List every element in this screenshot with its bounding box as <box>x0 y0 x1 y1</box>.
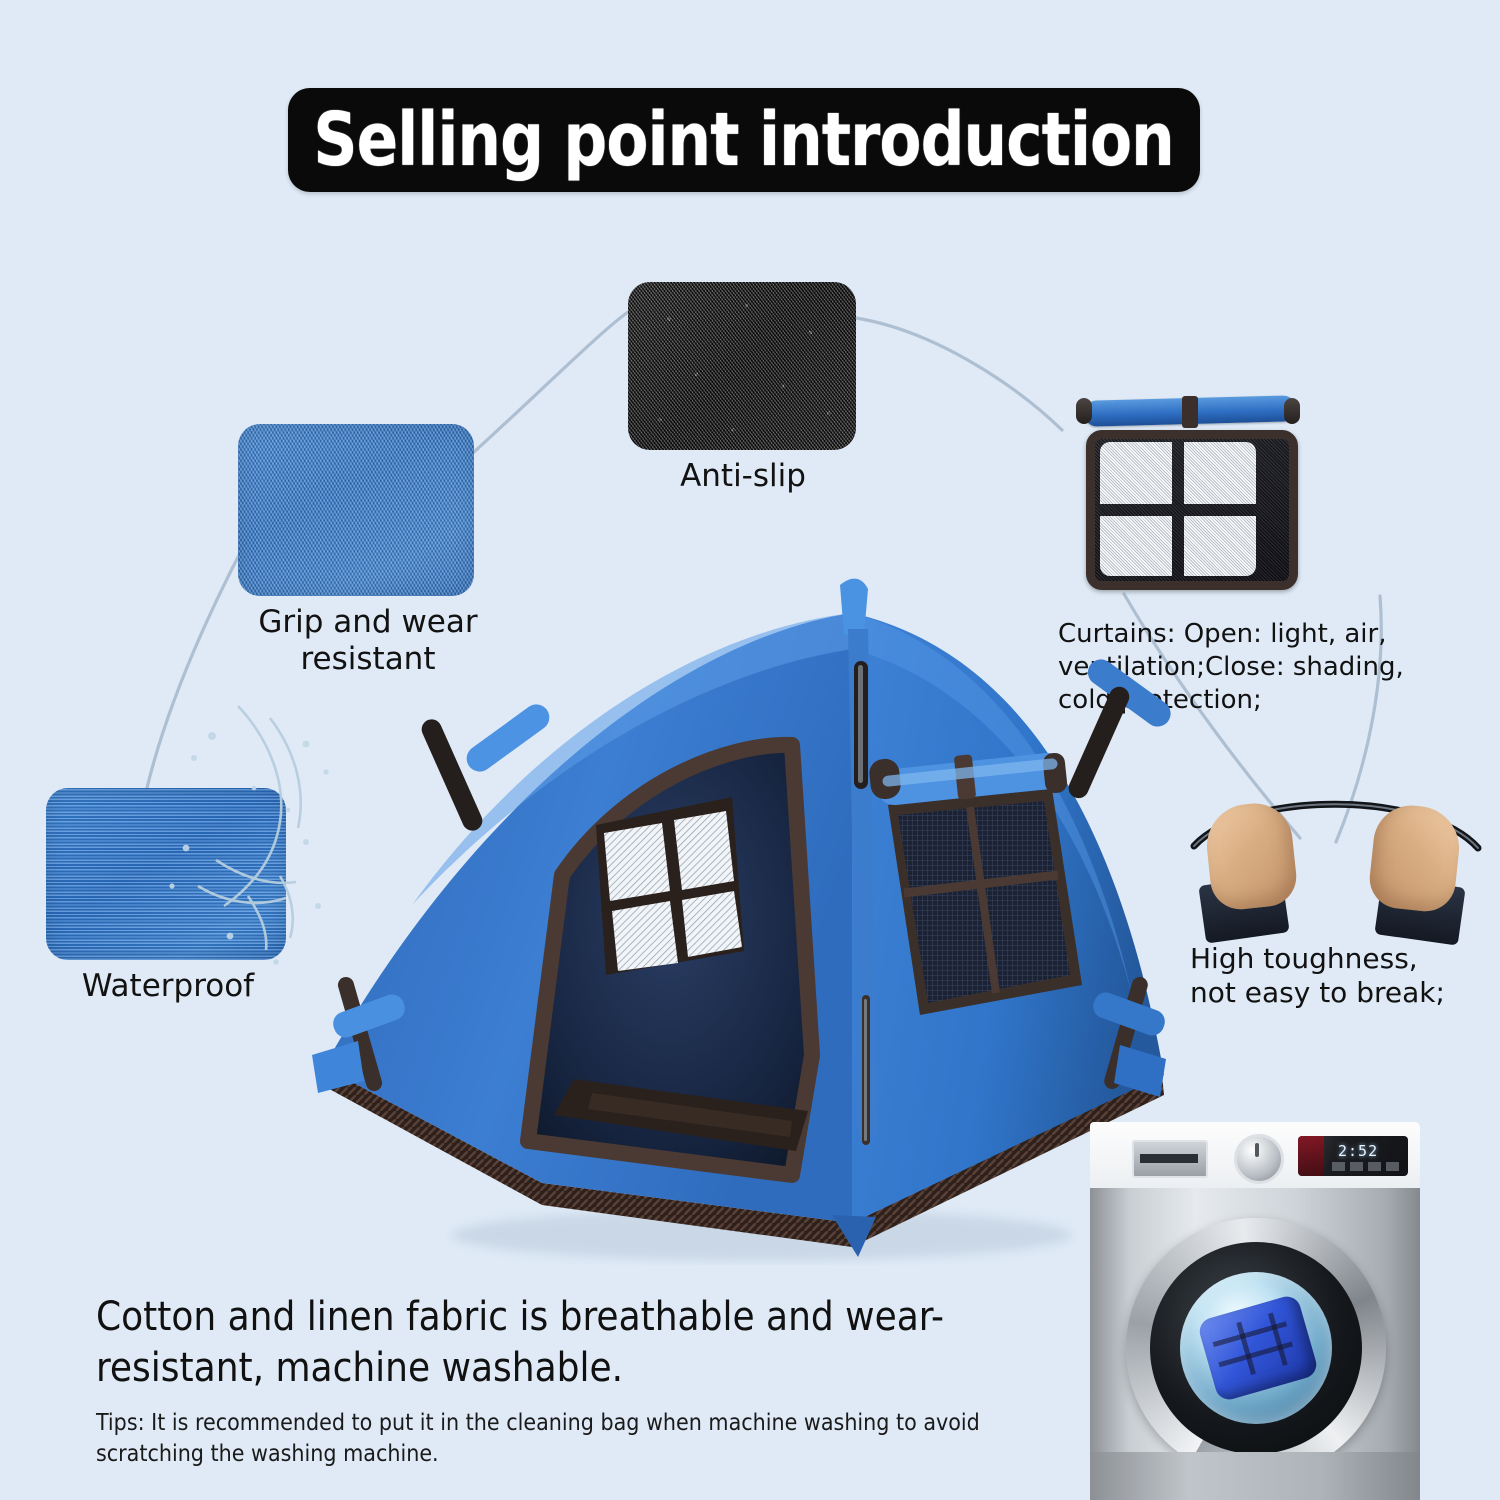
display-time: 2:52 <box>1338 1142 1378 1160</box>
curtain-end-cap <box>1076 398 1092 424</box>
page-title: Selling point introduction <box>314 97 1174 183</box>
connector-grip-to-antislip <box>474 312 628 452</box>
mesh-window-pane <box>1100 442 1172 504</box>
connector-antislip-to-curtain <box>856 318 1062 430</box>
footer-block: Cotton and linen fabric is breathable an… <box>96 1292 1046 1469</box>
mesh-window-pane <box>1184 442 1256 504</box>
swatch-waterproof <box>46 788 286 960</box>
label-high-toughness: High toughness, not easy to break; <box>1190 942 1490 1010</box>
washer-control-panel: 2:52 <box>1090 1122 1420 1188</box>
footer-headline: Cotton and linen fabric is breathable an… <box>96 1292 1046 1394</box>
washer-display: 2:52 <box>1298 1136 1408 1176</box>
mesh-window-pane <box>1184 516 1256 576</box>
product-tent-image <box>292 575 1192 1265</box>
photo-washing-machine: 2:52 <box>1066 1122 1462 1500</box>
display-accent-bar <box>1298 1136 1324 1176</box>
tent-mesh-window <box>596 797 744 975</box>
tent-ventilation-mesh-panel <box>888 789 1082 1015</box>
detergent-drawer <box>1132 1140 1208 1178</box>
washer-base <box>1090 1452 1420 1500</box>
washer-door-glass <box>1150 1242 1362 1454</box>
title-banner: Selling point introduction <box>288 88 1200 192</box>
blue-tent-in-drum <box>1196 1293 1319 1402</box>
infographic-page: Selling point introduction Anti-slip Gri… <box>0 0 1500 1500</box>
footer-tips: Tips: It is recommended to put it in the… <box>96 1408 996 1469</box>
curtain-strap <box>1182 396 1198 428</box>
photo-hands-bending-rod <box>1186 784 1486 936</box>
swatch-grip-wear <box>238 424 474 596</box>
pole-highlight <box>858 665 863 783</box>
display-buttons <box>1332 1162 1404 1171</box>
tent-apex-fin <box>840 579 868 635</box>
washer-drum <box>1180 1272 1332 1424</box>
photo-curtain-panel <box>1062 394 1316 594</box>
mesh-window-pane <box>1100 516 1172 576</box>
pole-highlight <box>864 999 867 1141</box>
program-dial <box>1234 1134 1284 1184</box>
label-anti-slip: Anti-slip <box>630 458 856 495</box>
curtain-end-cap <box>1284 398 1300 424</box>
label-waterproof: Waterproof <box>48 968 288 1005</box>
washer-door-ring <box>1126 1218 1386 1478</box>
swatch-anti-slip <box>628 282 856 450</box>
